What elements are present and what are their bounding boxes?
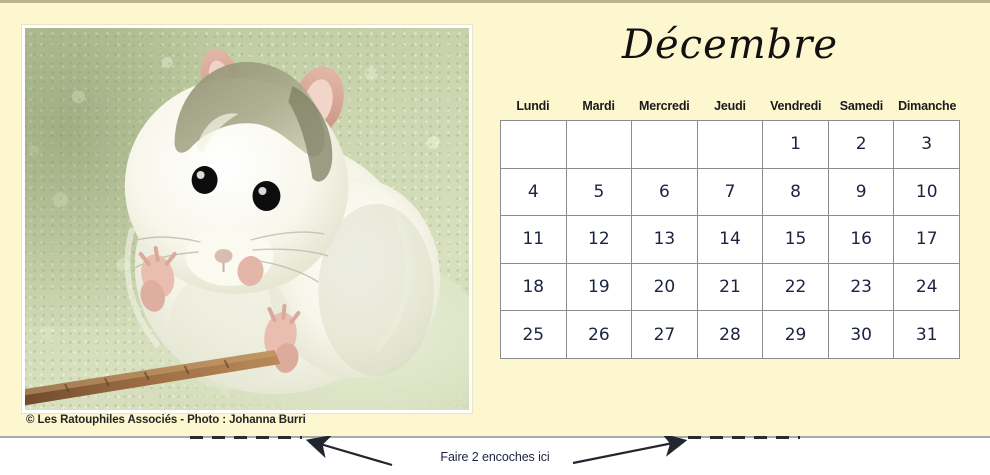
photo-frame — [22, 25, 472, 413]
day-cell[interactable]: 11 — [501, 216, 567, 264]
day-cell[interactable]: 12 — [567, 216, 633, 264]
day-cell[interactable]: 14 — [698, 216, 764, 264]
day-cell[interactable]: 29 — [763, 311, 829, 359]
day-cell[interactable] — [567, 121, 633, 169]
weekday-header-row: Lundi Mardi Mercredi Jeudi Vendredi Same… — [500, 92, 960, 120]
day-cell[interactable]: 8 — [763, 169, 829, 217]
day-cell[interactable]: 25 — [501, 311, 567, 359]
day-cell[interactable]: 6 — [632, 169, 698, 217]
photo-caption: © Les Ratouphiles Associés - Photo : Joh… — [26, 414, 306, 426]
day-cell[interactable]: 1 — [763, 121, 829, 169]
day-cell[interactable]: 19 — [567, 264, 633, 312]
day-cell[interactable]: 9 — [829, 169, 895, 217]
day-cell[interactable]: 15 — [763, 216, 829, 264]
day-cell[interactable]: 28 — [698, 311, 764, 359]
page-title: Décembre — [500, 22, 960, 68]
day-cell[interactable]: 4 — [501, 169, 567, 217]
day-cell[interactable]: 3 — [894, 121, 960, 169]
day-cell[interactable]: 27 — [632, 311, 698, 359]
day-cell[interactable]: 2 — [829, 121, 895, 169]
day-cell[interactable] — [632, 121, 698, 169]
weekday-header-saturday: Samedi — [829, 99, 895, 113]
day-cell[interactable]: 18 — [501, 264, 567, 312]
day-cell[interactable]: 20 — [632, 264, 698, 312]
notch-label: Faire 2 encoches ici — [0, 450, 990, 464]
day-cell[interactable]: 23 — [829, 264, 895, 312]
day-cell[interactable] — [501, 121, 567, 169]
day-grid: 1 2 3 4 5 6 7 8 9 10 11 12 13 14 15 16 1… — [500, 120, 960, 359]
weekday-header-monday: Lundi — [500, 99, 566, 113]
day-cell[interactable]: 24 — [894, 264, 960, 312]
weekday-header-tuesday: Mardi — [566, 99, 632, 113]
calendar-page-sheet: © Les Ratouphiles Associés - Photo : Joh… — [0, 0, 990, 436]
day-cell[interactable]: 13 — [632, 216, 698, 264]
notch-annotation-area: Faire 2 encoches ici — [0, 436, 990, 475]
weekday-header-sunday: Dimanche — [894, 99, 960, 113]
day-cell[interactable]: 5 — [567, 169, 633, 217]
day-cell[interactable]: 31 — [894, 311, 960, 359]
day-cell[interactable]: 7 — [698, 169, 764, 217]
weekday-header-friday: Vendredi — [763, 99, 829, 113]
day-cell[interactable]: 22 — [763, 264, 829, 312]
day-cell[interactable]: 26 — [567, 311, 633, 359]
hamster-illustration — [25, 28, 469, 410]
day-cell[interactable]: 10 — [894, 169, 960, 217]
sheet-top-rule — [0, 0, 990, 3]
weekday-header-thursday: Jeudi — [697, 99, 763, 113]
hamster-photo — [25, 28, 469, 410]
day-cell[interactable]: 16 — [829, 216, 895, 264]
calendar-table: Lundi Mardi Mercredi Jeudi Vendredi Same… — [500, 92, 960, 359]
day-cell[interactable]: 30 — [829, 311, 895, 359]
day-cell[interactable] — [698, 121, 764, 169]
day-cell[interactable]: 21 — [698, 264, 764, 312]
weekday-header-wednesday: Mercredi — [631, 99, 697, 113]
day-cell[interactable]: 17 — [894, 216, 960, 264]
